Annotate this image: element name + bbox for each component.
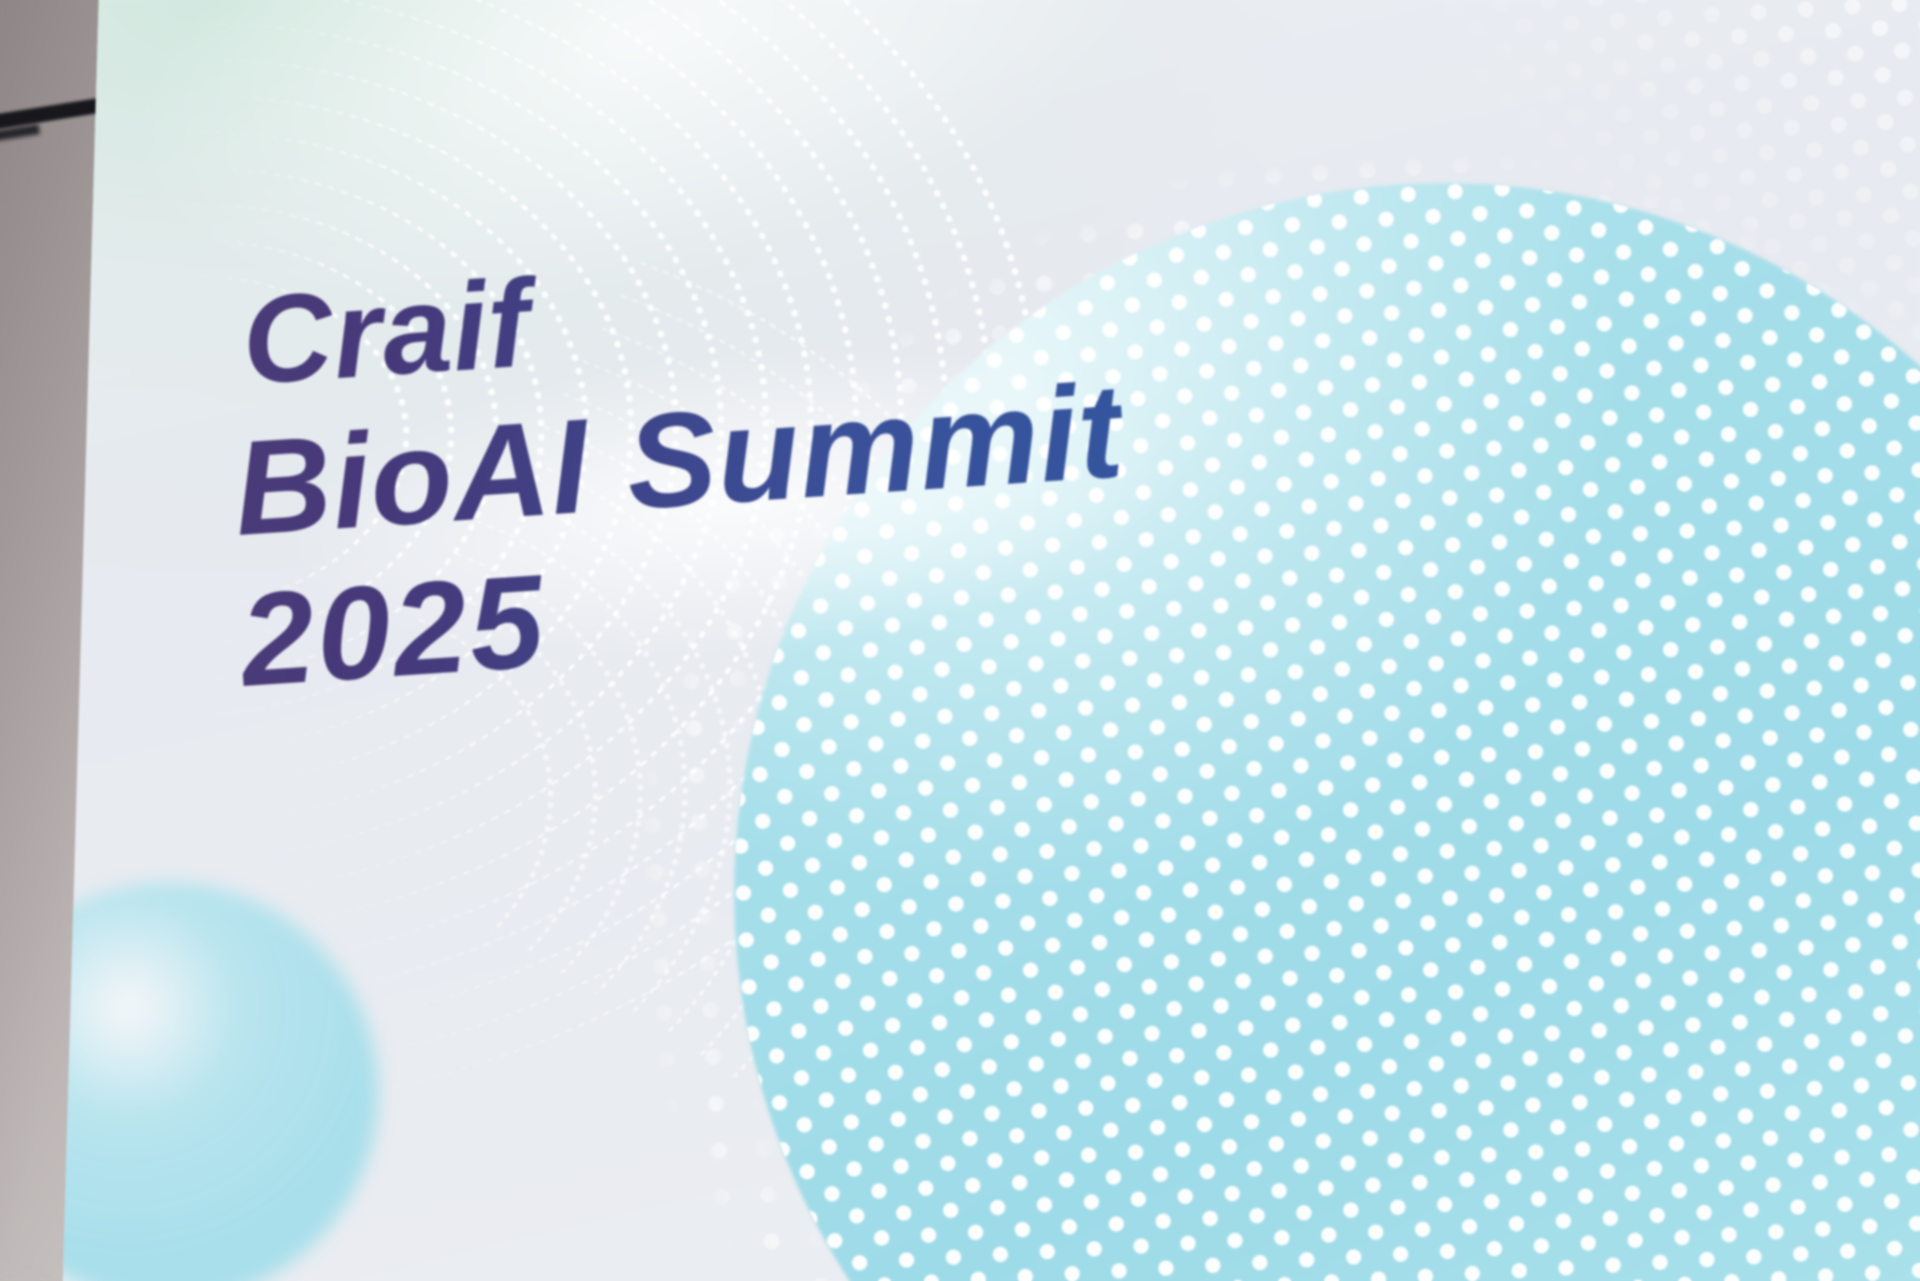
slide-title-block: Craif BioAI Summit 2025 — [221, 223, 1139, 725]
slide-panel: Craif BioAI Summit 2025 — [59, 0, 1920, 1281]
slide-photo-scene: Craif BioAI Summit 2025 — [0, 0, 1920, 1281]
